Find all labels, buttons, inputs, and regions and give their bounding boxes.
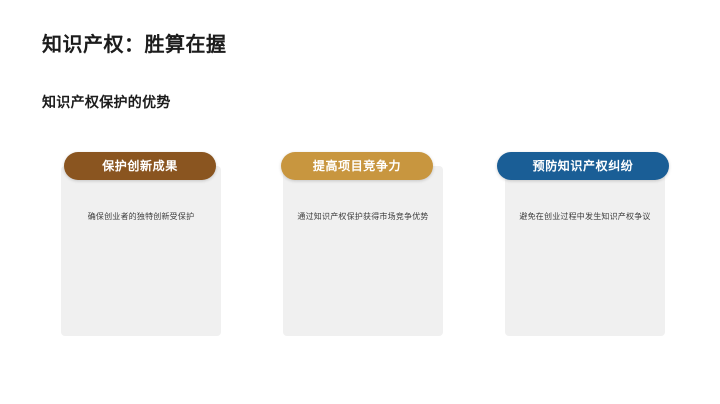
benefit-card-header-pill: 提高项目竞争力 — [281, 152, 433, 180]
benefit-card-body: 通过知识产权保护获得市场竞争优势 — [295, 210, 431, 224]
benefit-card-body: 避免在创业过程中发生知识产权争议 — [517, 210, 653, 224]
page-title: 知识产权：胜算在握 — [42, 28, 227, 57]
presentation-slide: 知识产权：胜算在握 知识产权保护的优势 确保创业者的独特创新受保护 通过知识产权… — [0, 0, 720, 404]
benefit-card-header-pill: 预防知识产权纠纷 — [497, 152, 669, 180]
benefit-card: 避免在创业过程中发生知识产权争议 — [505, 166, 665, 336]
section-subtitle: 知识产权保护的优势 — [42, 92, 171, 112]
benefit-card-body: 确保创业者的独特创新受保护 — [73, 210, 209, 224]
benefit-card-header-pill: 保护创新成果 — [64, 152, 216, 180]
benefit-cards-row: 确保创业者的独特创新受保护 通过知识产权保护获得市场竞争优势 避免在创业过程中发… — [0, 152, 720, 337]
benefit-card: 确保创业者的独特创新受保护 — [61, 166, 221, 336]
benefit-card: 通过知识产权保护获得市场竞争优势 — [283, 166, 443, 336]
